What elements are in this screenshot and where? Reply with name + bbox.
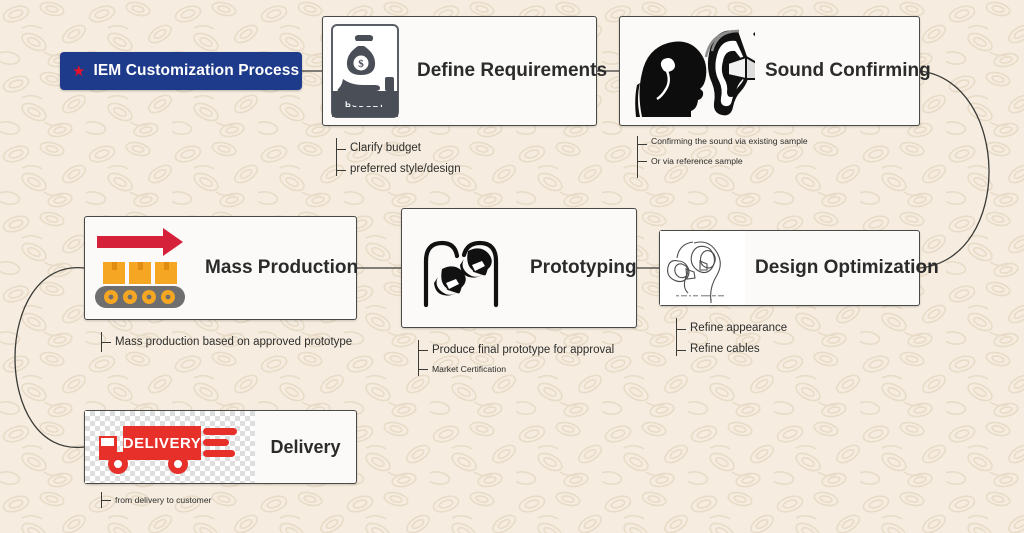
sub-tick <box>677 329 686 330</box>
sub-item: preferred style/design <box>336 159 586 180</box>
sub-tick <box>638 161 647 162</box>
sub-label: Refine appearance <box>690 322 787 334</box>
sub-item: Produce final prototype for approval <box>418 340 668 360</box>
sub-item: Confirming the sound via existing sample <box>637 136 857 153</box>
connector-mass-to-delivery-arc <box>15 268 84 448</box>
head-silhouette-ear-monitor-icon <box>620 21 755 121</box>
sub-item: Refine cables <box>676 339 896 360</box>
sub-label: Produce final prototype for approval <box>432 344 614 356</box>
subs-mass-production: Mass production based on approved protot… <box>101 332 401 352</box>
sub-label: Market Certification <box>432 364 506 374</box>
node-prototyping[interactable]: Prototyping <box>401 208 637 328</box>
mindmap-title[interactable]: ★ IEM Customization Process <box>60 52 302 90</box>
node-label: Delivery <box>255 411 356 483</box>
subs-prototyping: Produce final prototype for approval Mar… <box>418 340 668 378</box>
sub-item: Or via reference sample <box>637 153 857 169</box>
sub-label: preferred style/design <box>350 163 461 175</box>
delivery-truck-icon: DELIVERY <box>85 412 255 482</box>
node-mass-production[interactable]: Mass Production <box>84 216 357 320</box>
sub-item: Mass production based on approved protot… <box>101 332 401 352</box>
sub-item: Market Certification <box>418 360 668 378</box>
node-label: Sound Confirming <box>755 17 941 125</box>
sub-label: Clarify budget <box>350 142 421 154</box>
sub-label: Refine cables <box>690 343 760 355</box>
sub-tick <box>102 500 111 501</box>
svg-text:$: $ <box>358 58 364 70</box>
sub-tick <box>337 149 346 150</box>
sub-label: Confirming the sound via existing sample <box>651 136 808 146</box>
sub-label: Mass production based on approved protot… <box>115 336 352 348</box>
node-label: Design Optimization <box>745 231 949 305</box>
iem-pair-black-icon <box>402 213 520 323</box>
conveyor-boxes-arrow-icon <box>85 218 195 318</box>
node-define-requirements[interactable]: BUDGET $ Define Requirements <box>322 16 597 126</box>
prototyping-icon <box>402 209 520 327</box>
sub-tick <box>337 170 346 171</box>
sub-tick <box>102 342 111 343</box>
sub-item: Clarify budget <box>336 138 586 159</box>
sound-icon <box>620 17 755 125</box>
mass-production-icon <box>85 217 195 319</box>
sub-label: Or via reference sample <box>651 156 743 166</box>
node-label: Define Requirements <box>407 17 617 125</box>
subs-delivery: from delivery to customer <box>101 492 361 508</box>
sub-tick <box>419 350 428 351</box>
svg-text:DELIVERY: DELIVERY <box>123 435 201 452</box>
title-label: IEM Customization Process <box>93 62 299 80</box>
node-label: Prototyping <box>520 209 647 327</box>
budget-icon: BUDGET $ <box>323 17 407 125</box>
mindmap-canvas: ★ IEM Customization Process BUDGET $ Def… <box>0 0 1024 533</box>
sub-tick <box>419 369 428 370</box>
design-icon <box>660 231 745 305</box>
subs-design-optimization: Refine appearance Refine cables <box>676 318 896 360</box>
node-sound-confirming[interactable]: Sound Confirming <box>619 16 920 126</box>
node-label: Mass Production <box>195 217 368 319</box>
delivery-icon: DELIVERY <box>85 411 255 483</box>
sub-item: from delivery to customer <box>101 492 361 508</box>
sub-label: from delivery to customer <box>115 495 211 505</box>
budget-money-bag-icon: BUDGET $ <box>323 17 407 125</box>
sub-item: Refine appearance <box>676 318 896 339</box>
subs-define-requirements: Clarify budget preferred style/design <box>336 138 586 180</box>
subs-sound-confirming: Confirming the sound via existing sample… <box>637 136 857 169</box>
sub-tick <box>638 144 647 145</box>
iem-line-sketch-icon <box>660 231 745 305</box>
sub-tick <box>677 350 686 351</box>
star-icon: ★ <box>72 64 85 79</box>
node-design-optimization[interactable]: Design Optimization <box>659 230 920 306</box>
node-delivery[interactable]: DELIVERY Delivery <box>84 410 357 484</box>
